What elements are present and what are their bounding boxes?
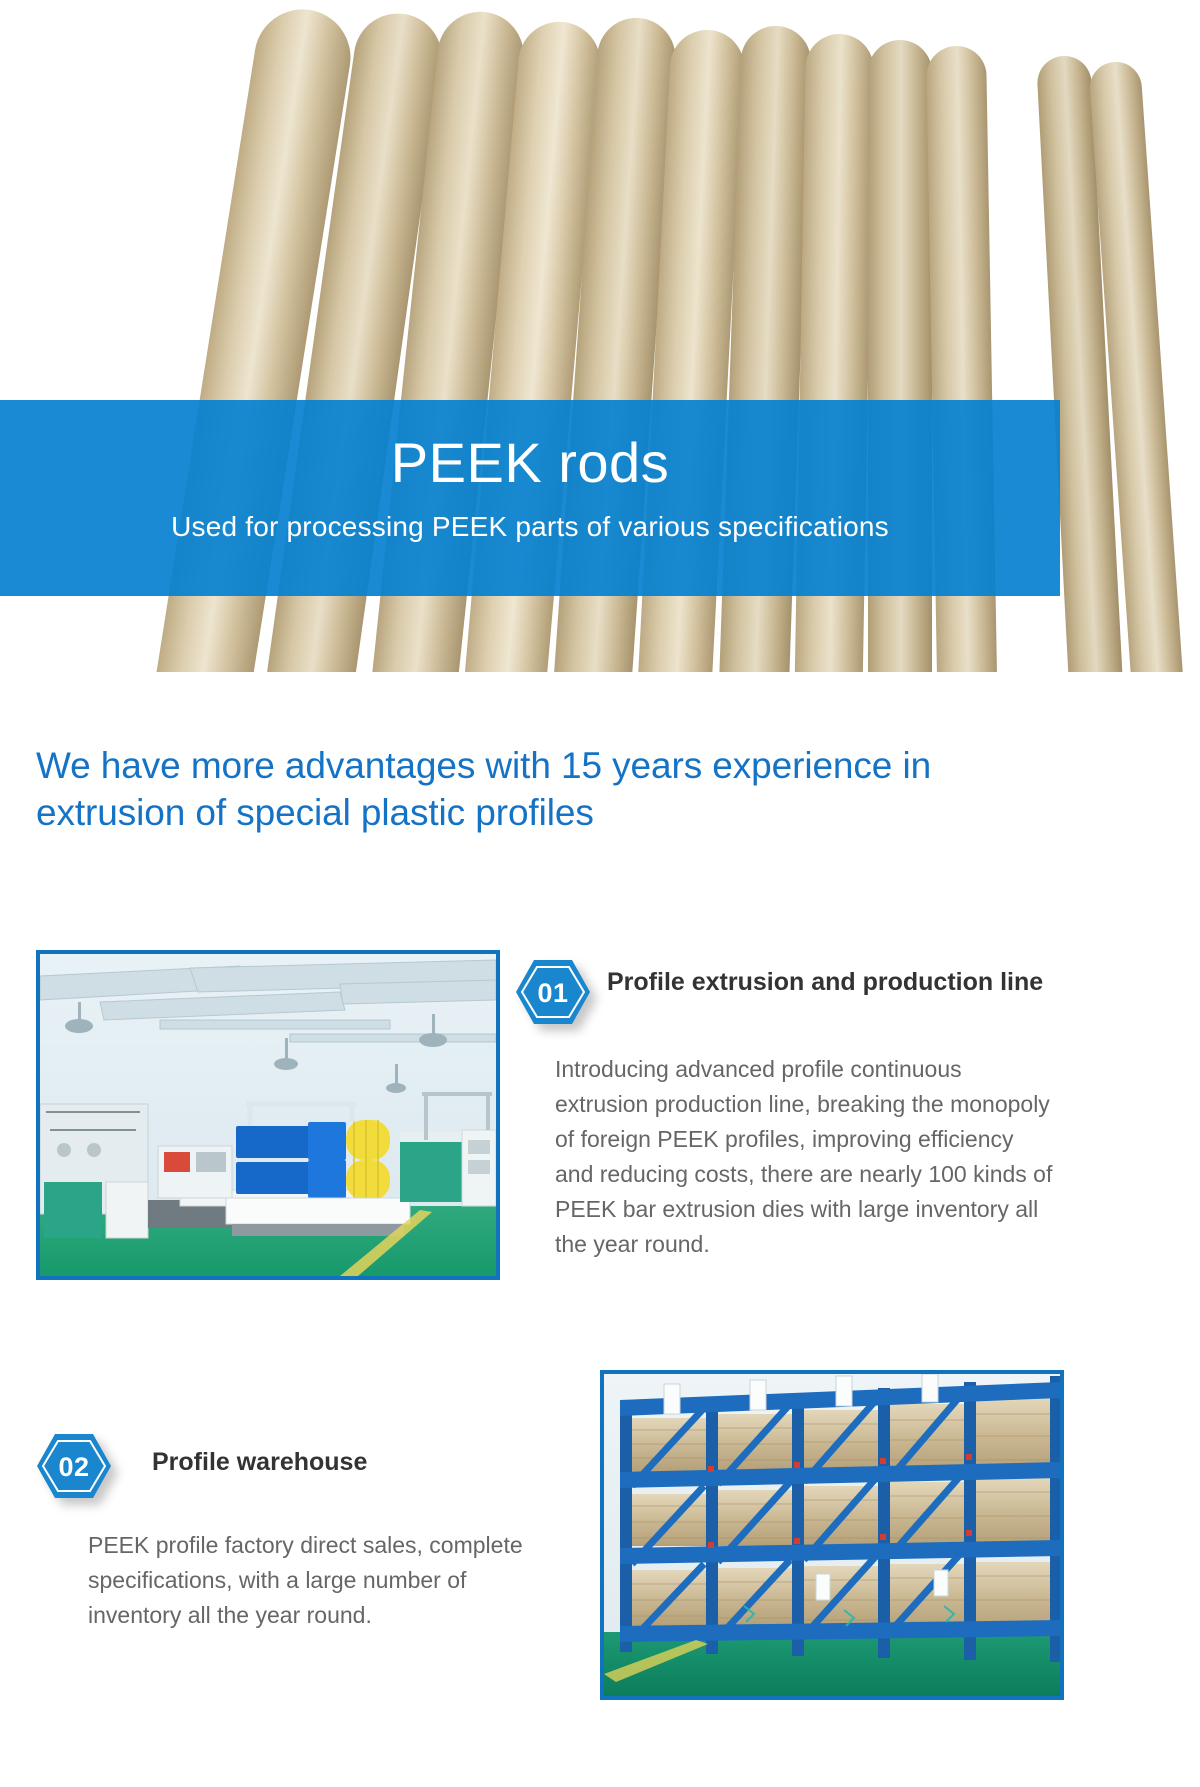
- hexagon-badge-01-icon: 01: [515, 958, 591, 1026]
- page-title: PEEK rods: [0, 400, 1060, 493]
- feature-description-01: Introducing advanced profile continuous …: [555, 1052, 1055, 1262]
- feature-number-01: 01: [515, 958, 591, 1026]
- feature-description-02: PEEK profile factory direct sales, compl…: [88, 1528, 528, 1633]
- feature-text-02: 02 Profile warehouse PEEK profile factor…: [36, 1432, 536, 1633]
- page-subtitle: Used for processing PEEK parts of variou…: [0, 493, 1060, 543]
- warehouse-illustration: [604, 1374, 1060, 1696]
- feature-title-02: Profile warehouse: [128, 1432, 367, 1480]
- hero-banner: PEEK rods Used for processing PEEK parts…: [0, 400, 1060, 596]
- feature-heading-01: 01 Profile extrusion and production line: [515, 958, 1060, 1026]
- feature-title-01: Profile extrusion and production line: [607, 958, 1043, 1000]
- feature-number-02: 02: [36, 1432, 112, 1500]
- feature-heading-02: 02 Profile warehouse: [36, 1432, 536, 1500]
- extrusion-production-line-photo: [36, 950, 500, 1280]
- profile-warehouse-photo: [600, 1370, 1064, 1700]
- factory-illustration: [40, 954, 496, 1276]
- feature-text-01: 01 Profile extrusion and production line…: [515, 958, 1060, 1262]
- hexagon-badge-02-icon: 02: [36, 1432, 112, 1500]
- hero-section: PEEK rods Used for processing PEEK parts…: [0, 0, 1200, 672]
- section-headline: We have more advantages with 15 years ex…: [36, 742, 1046, 837]
